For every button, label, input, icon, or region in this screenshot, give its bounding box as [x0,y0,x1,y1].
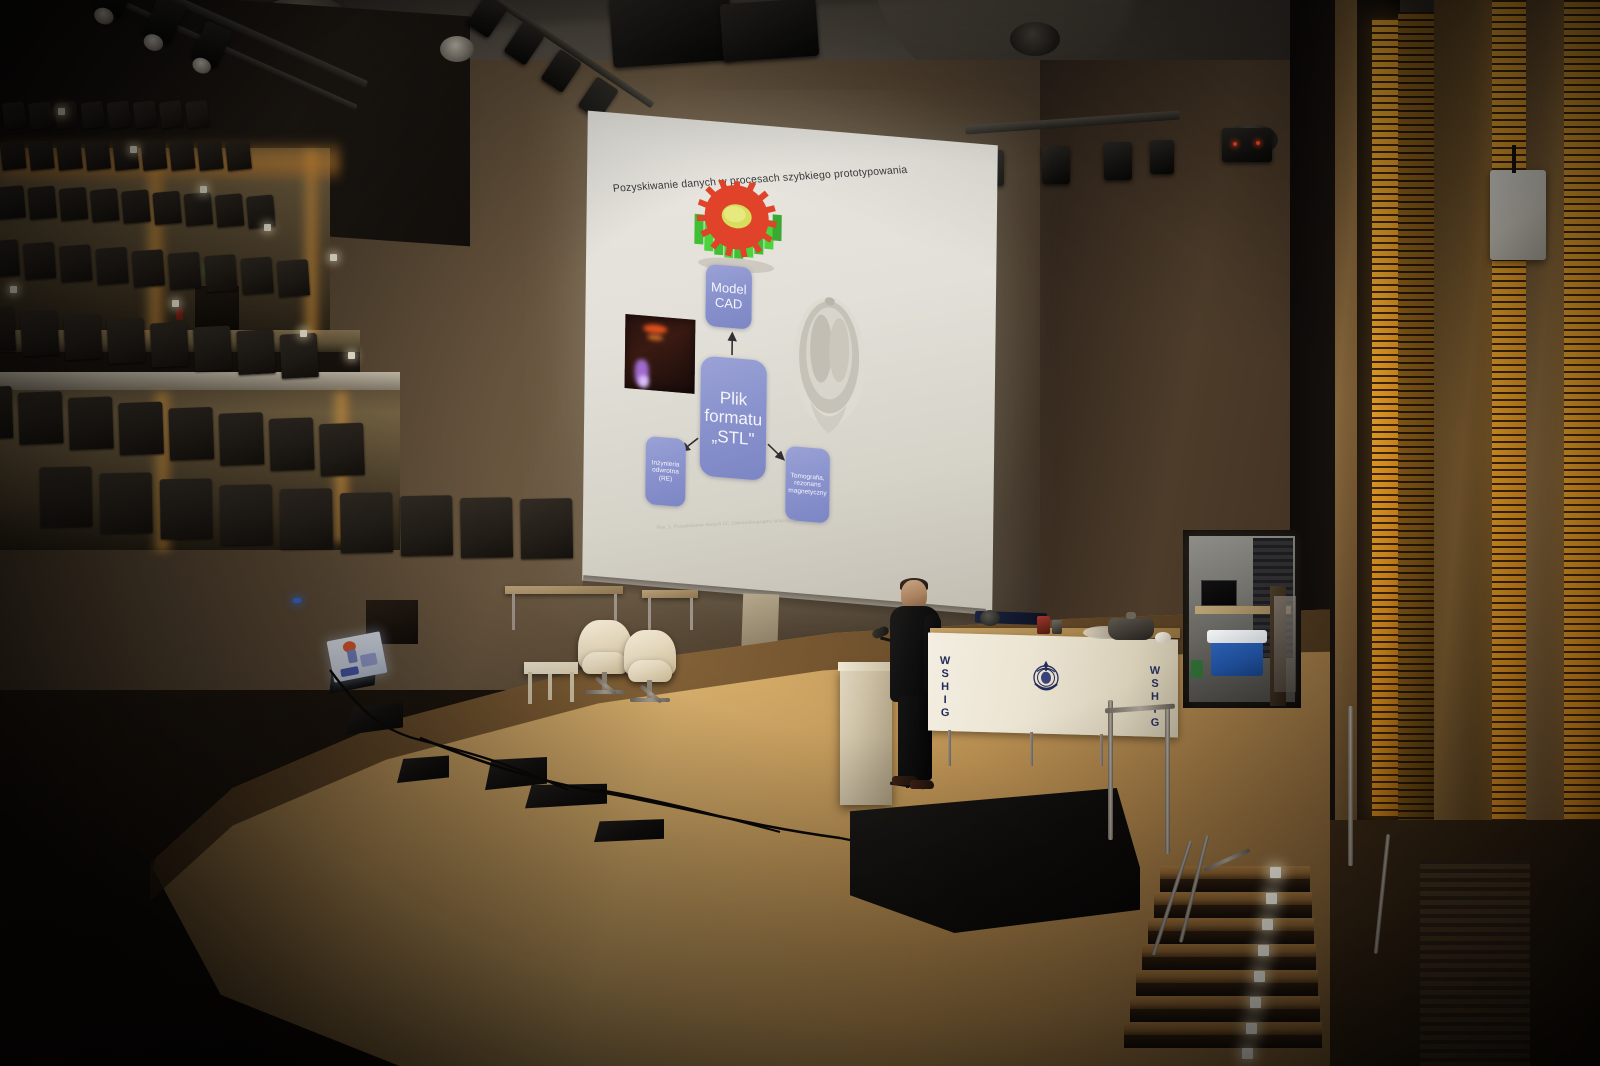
folding-table-right [642,590,698,598]
aisle-light [172,300,179,307]
auditorium-scene: Pozyskiwanie danych w procesach szybkieg… [0,0,1600,1066]
stair-step [1136,970,1318,983]
stair-riser [1160,879,1310,892]
stair-light [1270,867,1281,878]
cad-gear-illustration [684,177,795,278]
presenter-legs [898,696,932,780]
node-model-cad: Model CAD [705,264,752,330]
stage-fixture-3 [1104,142,1132,180]
stair-step [1130,996,1320,1009]
stair-riser [1124,1035,1322,1048]
wood-column-3 [1526,0,1564,900]
banner-table-leg [948,730,951,766]
stair-light [1242,1048,1253,1059]
stair-light [1250,997,1261,1008]
handrail-right [1374,834,1391,954]
cup-dark [1052,620,1062,634]
led-indicator-red-1 [1233,142,1237,146]
aisle-light [130,146,137,153]
stair-light [1266,893,1277,904]
stair-light [1254,971,1265,982]
stage-fixture-2 [1042,146,1070,184]
backstage-cart [1274,596,1296,692]
cup-red [1037,616,1050,634]
seat-row-front [39,435,661,556]
banner-table-leg [1100,734,1103,766]
cooler-body [1211,640,1263,676]
small-white-object [1155,632,1171,643]
wshig-banner: WSHIG WSHIG [928,633,1178,738]
stair-riser [1148,931,1314,944]
stair-light [1262,919,1273,930]
led-indicator-red-2 [1256,141,1260,145]
wall-mounted-loudspeaker [1490,170,1546,260]
stage-rail-post-2 [1165,704,1170,854]
pendant-fixture-2 [1010,22,1060,56]
node-stl-file-label: Plik formatu „STL" [704,387,762,449]
stair-step [1148,918,1314,931]
wood-column-2 [1434,0,1494,880]
stage-fixture-4 [1150,140,1174,174]
aisle-light [330,254,337,261]
aisle-light [10,286,17,293]
aisle-blue-light [293,598,301,603]
stair-riser [1136,983,1318,996]
lectern [840,667,892,805]
aisle-light [264,224,271,231]
aisle-light [200,186,207,193]
banner-roll-end [980,610,1000,626]
wood-column-1 [1335,0,1357,820]
acoustic-slat-panel-2 [1398,12,1434,832]
stage-rail-post-1 [1108,700,1113,840]
table-leg [648,598,651,632]
crest-icon [1029,657,1063,696]
node-tomography-label: Tomografia, rezonans magnetyczny [788,472,827,497]
banner-table-leg [1030,732,1033,766]
stair-light [1258,945,1269,956]
acoustic-slat-panel-1 [1372,18,1398,818]
speaker-bracket [1512,145,1516,173]
node-model-cad-label: Model CAD [711,281,747,313]
stage-rail-post-3 [1348,706,1353,866]
table-leg [512,594,515,630]
aisle-light [300,330,307,337]
stage-side-stairs [1140,848,1440,1066]
stair-riser [1130,1009,1320,1022]
banner-text-left: WSHIG [940,655,950,720]
acoustic-slat-panel-3 [1492,0,1526,900]
cooler-lid [1207,630,1267,643]
stair-step [1142,944,1316,957]
stair-step [1154,892,1312,905]
table-leg [690,598,693,630]
ct-skull-scan [784,288,874,445]
stair-riser [1154,905,1312,918]
banner-text-right: WSHIG [1150,665,1160,730]
backstage-monitor [1201,580,1237,606]
presenter-shoe-right [910,780,934,789]
folding-table-left [505,586,623,594]
stage-device-leds [1222,128,1272,162]
aisle-light [58,108,65,115]
metal-container [1108,618,1154,640]
stair-light [1246,1023,1257,1034]
stair-riser [1142,957,1316,970]
aisle-light [348,352,355,359]
pendant-fixture-1 [440,36,474,62]
container-handle [1126,612,1136,619]
green-box [1191,660,1203,678]
stair-step [1124,1022,1322,1035]
acoustic-slat-panel-4 [1564,0,1600,900]
printer-photo [625,314,696,394]
node-stl-file: Plik formatu „STL" [700,355,767,481]
node-tomography: Tomografia, rezonans magnetyczny [785,446,830,524]
lighting-truss-overhead [609,0,845,98]
